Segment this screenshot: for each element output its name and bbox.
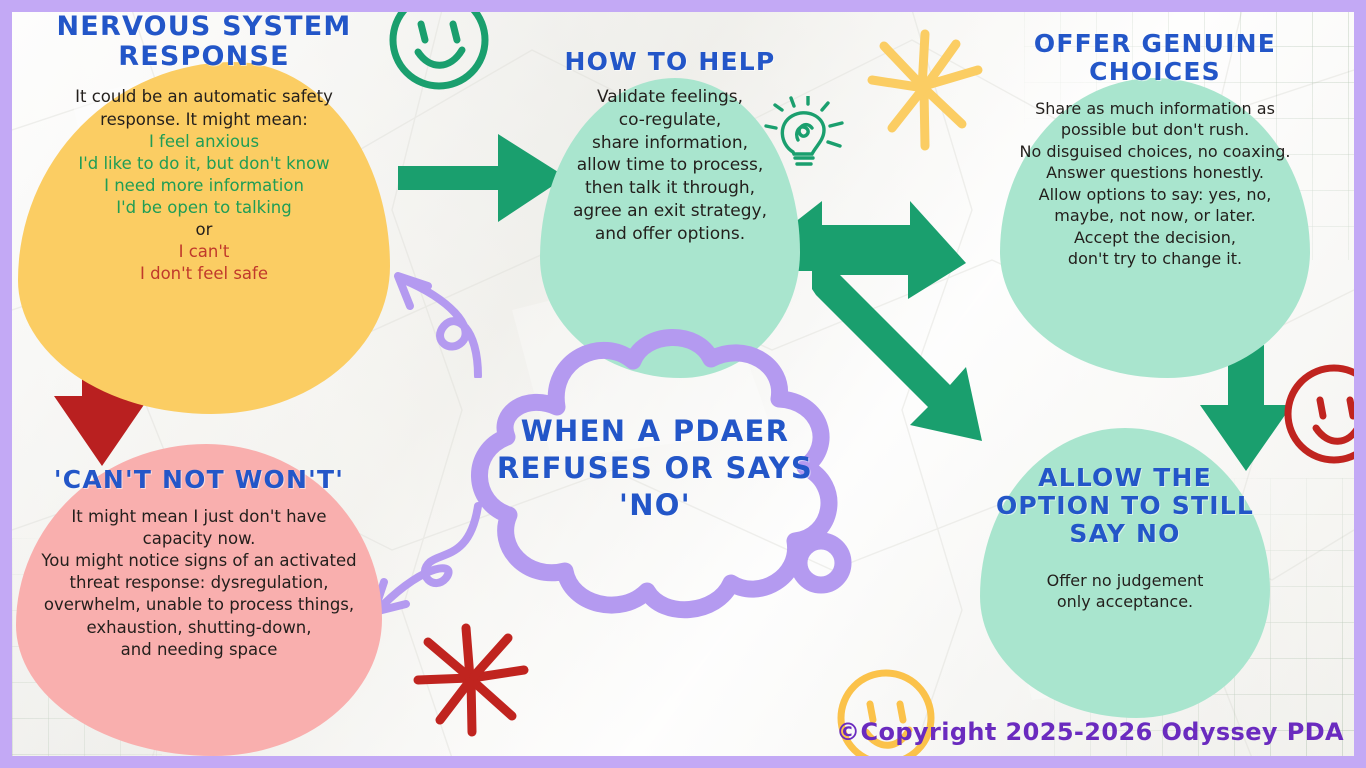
section-offer-genuine-choices: OFFER GENUINE CHOICES Share as much info… — [1000, 78, 1310, 378]
body-line: I need more information — [44, 175, 364, 197]
section-body: Validate feelings, co-regulate, share in… — [545, 86, 795, 245]
body-line: possible but don't rush. — [1005, 119, 1305, 140]
body-line: and needing space — [34, 639, 364, 661]
body-line: I'd be open to talking — [44, 197, 364, 219]
body-line: capacity now. — [34, 528, 364, 550]
body-line: I don't feel safe — [44, 263, 364, 285]
heading-line: ALLOW THE — [996, 464, 1254, 492]
body-line: maybe, not now, or later. — [1005, 205, 1305, 226]
heading-line: HOW TO HELP — [565, 48, 776, 76]
copyright-text: ©Copyright 2025-2026 Odyssey PDA — [836, 718, 1344, 746]
body-line: It could be an automatic safety — [44, 86, 364, 108]
section-cant-not-wont: 'CAN'T NOT WON'T' It might mean I just d… — [16, 444, 382, 756]
body-line: No disguised choices, no coaxing. — [1005, 141, 1305, 162]
smiley-face-icon — [1282, 358, 1366, 470]
section-heading: HOW TO HELP — [565, 48, 776, 76]
section-heading: ALLOW THE OPTION TO STILL SAY NO — [996, 464, 1254, 548]
body-line: agree an exit strategy, — [545, 200, 795, 223]
body-line: response. It might mean: — [44, 109, 364, 131]
sparkle-icon — [862, 28, 988, 152]
heading-line: OPTION TO STILL — [996, 492, 1254, 520]
section-body: Share as much information as possible bu… — [1005, 98, 1305, 270]
body-line: Answer questions honestly. — [1005, 162, 1305, 183]
body-line: Validate feelings, — [545, 86, 795, 109]
body-line: I can't — [44, 241, 364, 263]
body-line: Share as much information as — [1005, 98, 1305, 119]
section-body: Offer no judgement only acceptance. — [995, 570, 1255, 613]
section-heading: OFFER GENUINE CHOICES — [1034, 30, 1276, 86]
body-line: only acceptance. — [995, 591, 1255, 612]
cloud-title: WHEN A PDAER REFUSES OR SAYS 'NO' — [445, 413, 865, 524]
body-line: Allow options to say: yes, no, — [1005, 184, 1305, 205]
body-line: It might mean I just don't have — [34, 506, 364, 528]
body-line: You might notice signs of an activated — [34, 550, 364, 572]
body-line: share information, — [545, 132, 795, 155]
section-body: It might mean I just don't have capacity… — [34, 506, 364, 661]
body-line: Accept the decision, — [1005, 227, 1305, 248]
section-allow-option-to-say-no: ALLOW THE OPTION TO STILL SAY NO Offer n… — [980, 428, 1270, 718]
section-heading: 'CAN'T NOT WON'T' — [54, 466, 344, 494]
body-line: co-regulate, — [545, 109, 795, 132]
body-line: overwhelm, unable to process things, — [34, 594, 364, 616]
cloud-title-line: REFUSES OR SAYS — [445, 450, 865, 487]
body-line: then talk it through, — [545, 177, 795, 200]
body-line: allow time to process, — [545, 154, 795, 177]
heading-line: NERVOUS SYSTEM — [57, 12, 352, 42]
body-line: exhaustion, shutting-down, — [34, 617, 364, 639]
body-line: Offer no judgement — [995, 570, 1255, 591]
section-body: It could be an automatic safety response… — [44, 86, 364, 285]
smiley-face-icon — [378, 0, 500, 100]
lightbulb-icon — [764, 96, 850, 180]
cloud-title-line: 'NO' — [445, 487, 865, 524]
body-line: I'd like to do it, but don't know — [44, 153, 364, 175]
body-line: and offer options. — [545, 223, 795, 246]
heading-line: SAY NO — [996, 520, 1254, 548]
heading-line: RESPONSE — [57, 42, 352, 72]
heading-line: OFFER GENUINE — [1034, 30, 1276, 58]
body-line: or — [44, 219, 364, 241]
body-line: don't try to change it. — [1005, 248, 1305, 269]
infographic-canvas: NERVOUS SYSTEM RESPONSE It could be an a… — [0, 0, 1366, 768]
section-heading: NERVOUS SYSTEM RESPONSE — [57, 12, 352, 72]
body-line: I feel anxious — [44, 131, 364, 153]
cloud-title-line: WHEN A PDAER — [445, 413, 865, 450]
heading-line: CHOICES — [1034, 58, 1276, 86]
section-nervous-system-response: NERVOUS SYSTEM RESPONSE It could be an a… — [18, 62, 390, 414]
heading-line: 'CAN'T NOT WON'T' — [54, 466, 344, 494]
body-line: threat response: dysregulation, — [34, 572, 364, 594]
sparkle-icon — [412, 620, 534, 738]
center-cloud: WHEN A PDAER REFUSES OR SAYS 'NO' — [445, 325, 865, 625]
